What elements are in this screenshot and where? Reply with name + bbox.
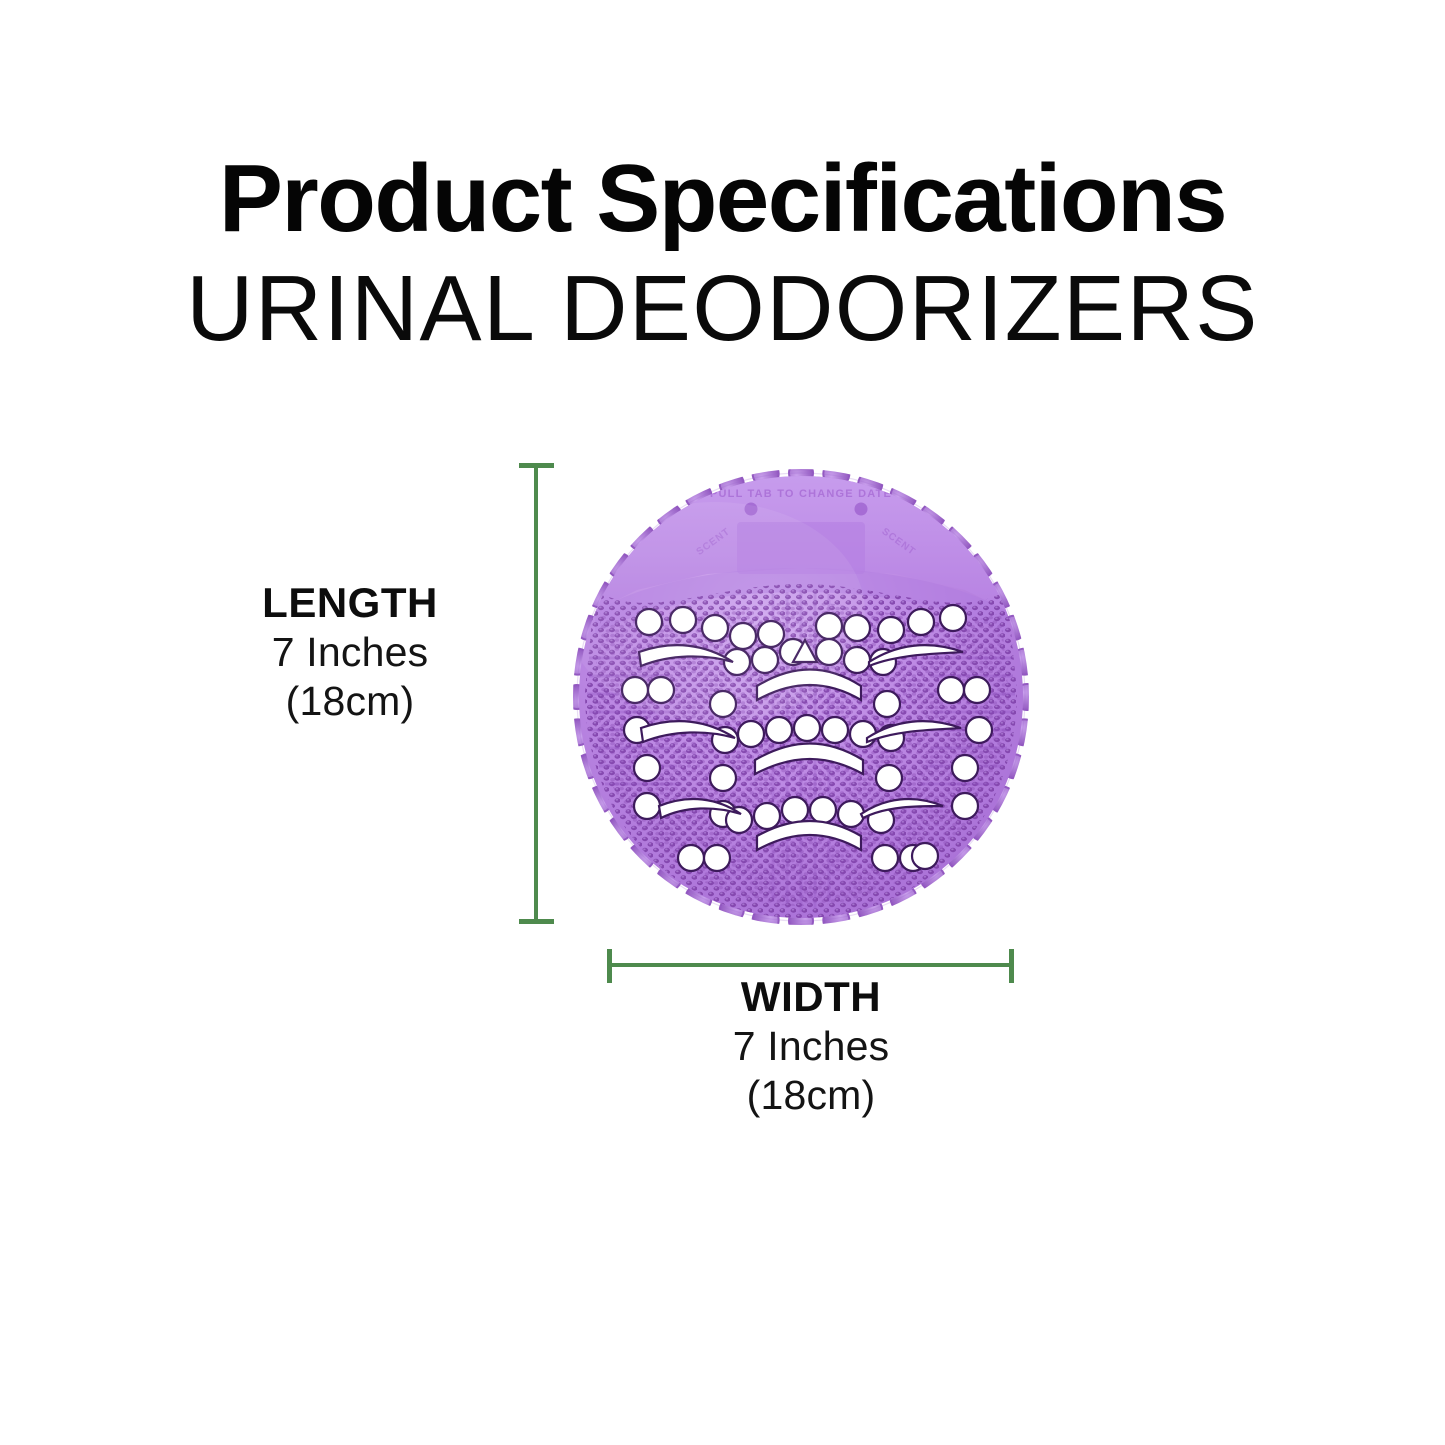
product-image: PULL TAB TO CHANGE DATE SCENT SCENT: [565, 462, 1037, 932]
product-embossed-top-text: PULL TAB TO CHANGE DATE: [710, 488, 892, 500]
length-metric: (18cm): [200, 677, 500, 726]
length-label: LENGTH: [200, 578, 500, 628]
width-dimension-line: [608, 963, 1014, 967]
width-value: 7 Inches: [611, 1022, 1011, 1071]
width-label-group: WIDTH 7 Inches (18cm): [611, 972, 1011, 1120]
length-label-group: LENGTH 7 Inches (18cm): [200, 578, 500, 726]
page-title: Product Specifications: [0, 150, 1445, 248]
length-value: 7 Inches: [200, 628, 500, 677]
length-dimension-cap-bottom: [519, 919, 554, 924]
product-specification-image: Product Specifications URINAL DEODORIZER…: [0, 0, 1445, 1445]
width-label: WIDTH: [611, 972, 1011, 1022]
title-block: Product Specifications URINAL DEODORIZER…: [0, 150, 1445, 358]
length-dimension-cap-top: [519, 463, 554, 468]
width-metric: (18cm): [611, 1071, 1011, 1120]
page-subtitle: URINAL DEODORIZERS: [0, 260, 1445, 358]
length-dimension-line: [534, 463, 538, 923]
